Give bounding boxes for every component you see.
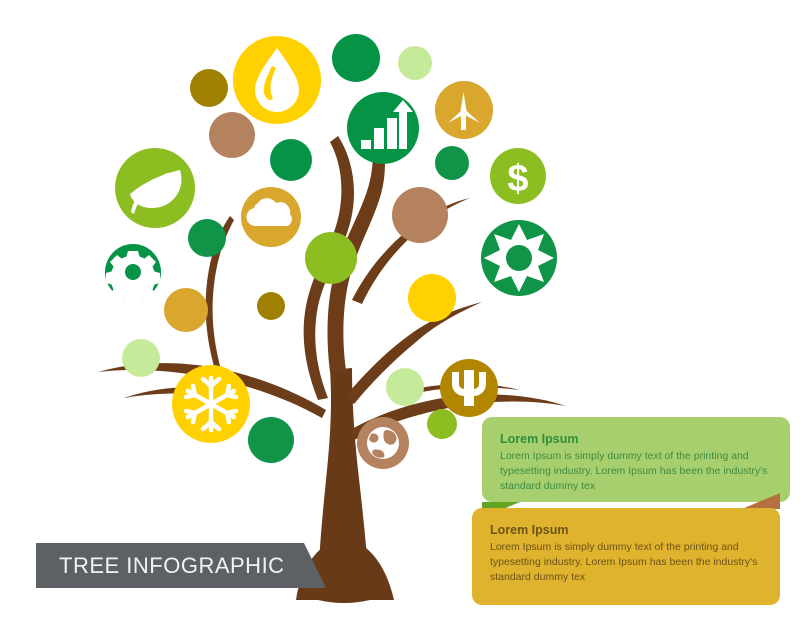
plain-circle <box>398 46 432 80</box>
callout-gold-body: Lorem Ipsum is simply dummy text of the … <box>490 540 762 585</box>
callout-gold-tail <box>742 493 780 509</box>
plain-circle <box>408 274 456 322</box>
dollar-icon: $ <box>507 158 528 200</box>
icon-circle-leaf[interactable] <box>115 148 195 228</box>
callout-gold-title: Lorem Ipsum <box>490 522 762 539</box>
callout-green-body: Lorem Ipsum is simply dummy text of the … <box>500 449 772 494</box>
title-banner: TREE INFOGRAPHIC <box>36 543 304 588</box>
plain-circle <box>386 368 424 406</box>
callout-green[interactable]: Lorem Ipsum Lorem Ipsum is simply dummy … <box>482 417 790 502</box>
callout-gold[interactable]: Lorem Ipsum Lorem Ipsum is simply dummy … <box>472 508 780 605</box>
plain-circle <box>122 339 160 377</box>
bar-chart-up-icon <box>361 140 371 149</box>
icon-circle-dollar[interactable]: $ <box>490 148 546 204</box>
plain-circle <box>209 112 255 158</box>
page-title: TREE INFOGRAPHIC <box>59 553 285 579</box>
icon-circle-gear[interactable] <box>105 244 161 305</box>
plain-circle <box>435 146 469 180</box>
plain-circle <box>270 139 312 181</box>
icon-circle-wind-turbine[interactable] <box>435 81 493 139</box>
icon-circle-growth-chart[interactable] <box>347 92 419 164</box>
icon-circle-cactus[interactable] <box>440 359 498 417</box>
plain-circle <box>190 69 228 107</box>
icon-circle-water-drop[interactable] <box>233 36 321 124</box>
plain-circle <box>332 34 380 82</box>
plain-circle <box>164 288 208 332</box>
icon-circle-sun[interactable] <box>481 220 557 296</box>
plain-circle <box>392 187 448 243</box>
plain-circle <box>427 409 457 439</box>
infographic-canvas: $ <box>0 0 800 623</box>
plain-circle <box>257 292 285 320</box>
icon-circle-snowflake[interactable] <box>172 365 250 443</box>
cactus-icon <box>464 370 474 406</box>
icon-circle-cloud[interactable] <box>241 187 301 247</box>
plain-circle <box>248 417 294 463</box>
icon-circle-globe[interactable] <box>357 417 409 469</box>
callout-green-title: Lorem Ipsum <box>500 431 772 448</box>
plain-circle <box>305 232 357 284</box>
plain-circle <box>188 219 226 257</box>
